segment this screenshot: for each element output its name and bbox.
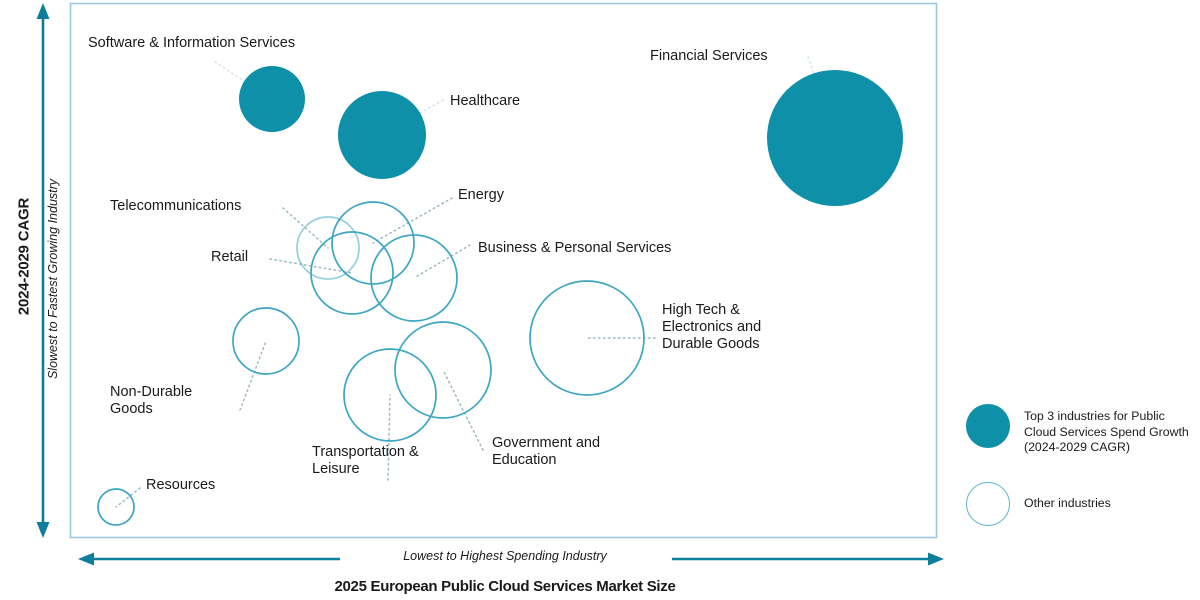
bubble-label: Energy <box>458 187 504 204</box>
bubble[interactable] <box>239 66 305 132</box>
legend-outline-circle-icon <box>966 482 1010 526</box>
y-axis-subtitle: Slowest to Fastest Growing Industry <box>46 164 60 394</box>
legend-filled-circle-icon <box>966 404 1010 448</box>
bubble-label: Telecommunications <box>110 198 241 215</box>
bubble-label: Resources <box>146 477 215 494</box>
y-axis-title: 2024-2029 CAGR <box>16 167 33 347</box>
bubble-label: Government and Education <box>492 435 600 469</box>
leader-line <box>240 341 266 410</box>
bubble[interactable] <box>530 281 644 395</box>
x-axis-subtitle: Lowest to Highest Spending Industry <box>0 549 1010 563</box>
leader-line <box>373 198 452 243</box>
bubble-label: Non-Durable Goods <box>110 384 192 418</box>
bubble-label: Business & Personal Services <box>478 240 671 257</box>
legend-item-top3: Top 3 industries for Public Cloud Servic… <box>966 404 1196 456</box>
bubble-label: Software & Information Services <box>88 35 295 52</box>
legend-item-other-label: Other industries <box>1024 482 1196 512</box>
legend-item-top3-label: Top 3 industries for Public Cloud Servic… <box>1024 404 1196 456</box>
bubble[interactable] <box>338 91 426 179</box>
leader-line <box>116 488 140 507</box>
leader-lines <box>116 57 836 507</box>
bubble-label: Transportation & Leisure <box>312 444 419 478</box>
x-axis-title: 2025 European Public Cloud Services Mark… <box>0 578 1010 595</box>
bubble-chart: 2024-2029 CAGR Slowest to Fastest Growin… <box>0 0 1200 600</box>
leader-line <box>443 370 483 450</box>
legend: Top 3 industries for Public Cloud Servic… <box>966 404 1196 537</box>
bubble[interactable] <box>767 70 903 206</box>
bubble-label: Healthcare <box>450 93 520 110</box>
bubble-label: High Tech & Electronics and Durable Good… <box>662 302 761 353</box>
legend-item-other: Other industries <box>966 482 1196 512</box>
leader-line <box>283 208 328 248</box>
bubble-label: Financial Services <box>650 48 768 65</box>
leader-line <box>414 245 470 278</box>
bubble-label: Retail <box>211 249 248 266</box>
